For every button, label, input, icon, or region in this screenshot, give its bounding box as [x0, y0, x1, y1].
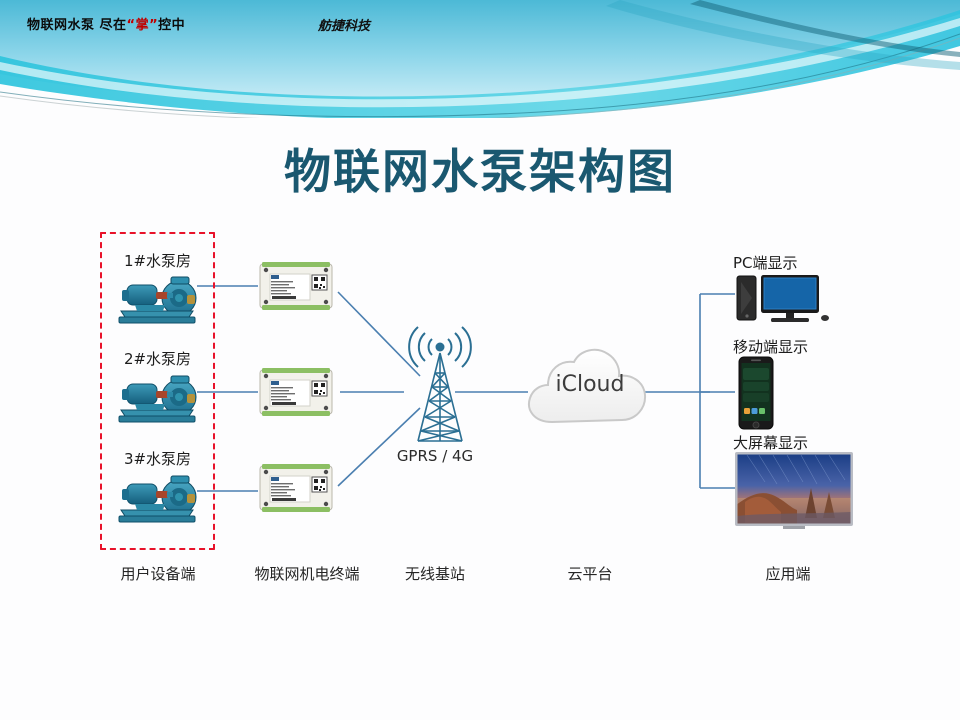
iot-terminal-module-icon	[258, 462, 334, 514]
iot-terminal-module-icon	[258, 366, 334, 418]
column-label-user-equipment: 用户设备端	[93, 563, 223, 584]
tower-caption: GPRS / 4G	[380, 447, 490, 465]
column-label-application: 应用端	[723, 563, 853, 584]
header-quote-open: “	[127, 18, 136, 33]
brand-name: 舫捷科技	[318, 15, 370, 34]
architecture-diagram: 1#水泵房	[0, 0, 960, 720]
pump-house-label-2: 2#水泵房	[100, 348, 215, 369]
water-pump-icon	[113, 273, 201, 329]
pc-display-caption: PC端显示	[733, 252, 798, 273]
pump-house-label-3: 3#水泵房	[100, 448, 215, 469]
iot-terminal-module-icon	[258, 260, 334, 312]
header-quote-close: ”	[149, 18, 158, 33]
column-label-cloud-platform: 云平台	[535, 563, 645, 584]
large-display-screen-icon	[735, 452, 853, 535]
cloud-label: iCloud	[530, 372, 650, 397]
mobile-display-caption: 移动端显示	[733, 336, 808, 357]
large-screen-caption: 大屏幕显示	[733, 432, 808, 453]
cell-tower-icon	[392, 325, 488, 452]
column-label-iot-terminal: 物联网机电终端	[222, 563, 392, 584]
water-pump-icon	[113, 472, 201, 528]
water-pump-icon	[113, 372, 201, 428]
header-tagline: 物联网水泵 尽在“掌”控中	[27, 14, 185, 33]
slide-root: 物联网水泵 尽在“掌”控中 舫捷科技 物联网水泵架构图	[0, 0, 960, 720]
header-tagline-part2: 控中	[158, 18, 185, 33]
header-tagline-accent: 掌	[136, 18, 150, 33]
pump-house-label-1: 1#水泵房	[100, 250, 215, 271]
header-tagline-part1: 物联网水泵 尽在	[27, 18, 127, 33]
desktop-computer-icon	[735, 272, 831, 333]
smartphone-icon	[737, 356, 775, 435]
column-label-wireless-base-station: 无线基站	[380, 563, 490, 584]
